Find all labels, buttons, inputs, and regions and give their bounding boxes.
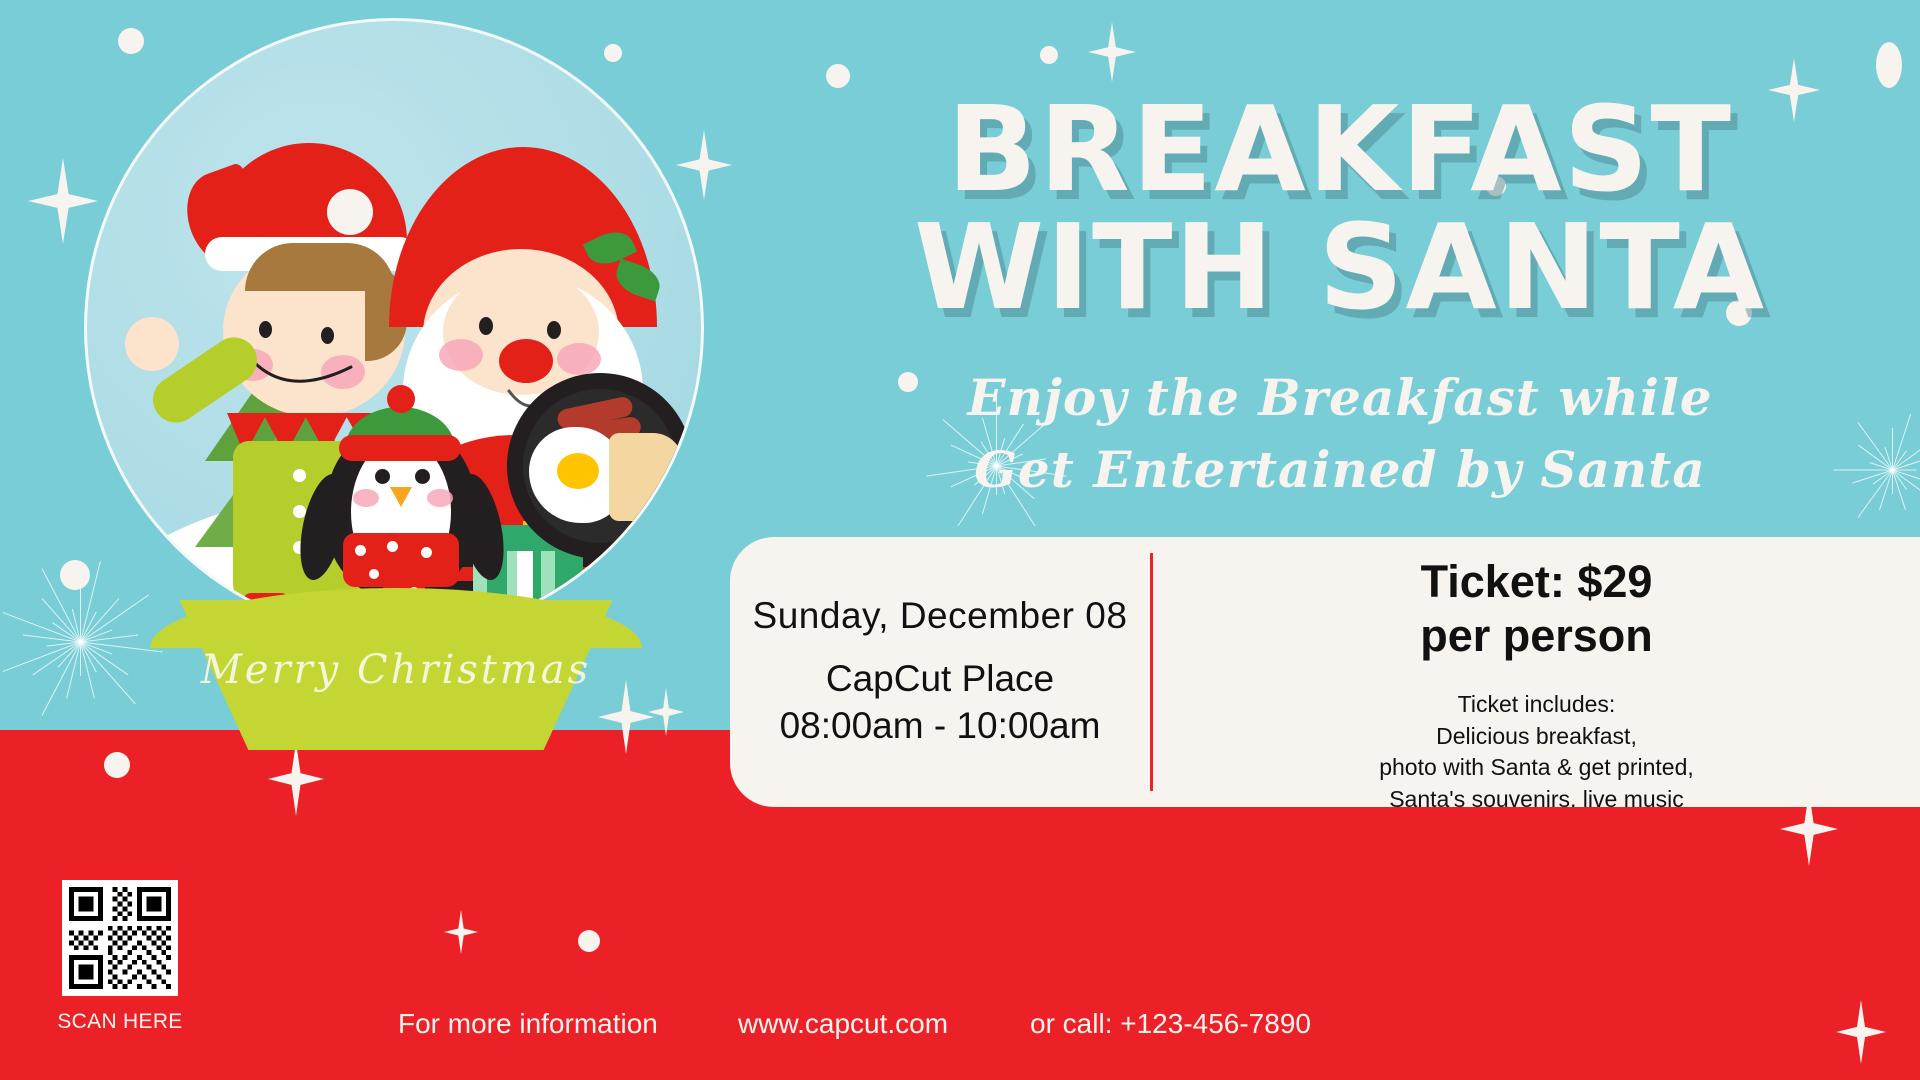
santa-nose [499, 339, 553, 383]
ticket-price: Ticket: $29 per person [1420, 555, 1653, 663]
elf-eye [321, 327, 334, 344]
penguin-cheek [353, 489, 379, 507]
footer-more-info: For more information [398, 1008, 658, 1040]
headline-line-2: WITH SANTA [760, 208, 1920, 326]
subtitle-line-1: Enjoy the Breakfast while [760, 368, 1920, 427]
santa-cheek [557, 343, 601, 375]
merry-christmas-banner: Merry Christmas [150, 610, 642, 730]
scarf-dot [387, 541, 398, 552]
event-info-card: Sunday, December 08 CapCut Place 08:00am… [730, 537, 1920, 807]
elf-button [293, 469, 306, 482]
ticket-includes-heading: Ticket includes: [1379, 689, 1694, 721]
fried-egg-yolk [557, 453, 599, 489]
ticket-includes-item: photo with Santa & get printed, [1379, 752, 1694, 784]
scarf-dot [355, 545, 366, 556]
toast-slice [609, 433, 683, 521]
penguin-cheek [427, 489, 453, 507]
event-venue: CapCut Place [780, 655, 1101, 702]
elf-hat-pompom [327, 189, 373, 235]
holly-berry-icon [621, 293, 636, 308]
ticket-includes-item: Santa's souvenirs, live music [1379, 784, 1694, 807]
poster-canvas: ❄ ❄ ❄ [0, 0, 1920, 1080]
snow-dot [578, 930, 600, 952]
footer-website-link[interactable]: www.capcut.com [738, 1008, 948, 1040]
penguin-hat-pompom [387, 385, 415, 413]
subtitle-line-2: Get Entertained by Santa [760, 440, 1920, 499]
event-date: Sunday, December 08 [753, 595, 1128, 637]
headline-line-1: BREAKFAST [760, 90, 1920, 208]
penguin-eye [375, 469, 390, 484]
elf-eye [259, 321, 272, 338]
santa-cheek [439, 339, 483, 371]
footer-phone[interactable]: or call: +123-456-7890 [1030, 1008, 1311, 1040]
qr-code-svg [69, 887, 171, 989]
event-schedule-block: Sunday, December 08 CapCut Place 08:00am… [730, 537, 1150, 807]
snow-globe-illustration: Merry Christmas [66, 10, 726, 810]
ticket-includes-item: Delicious breakfast, [1379, 721, 1694, 753]
qr-code-block[interactable]: SCAN HERE [40, 880, 200, 1034]
scarf-dot [421, 547, 432, 558]
penguin-hat-brim [339, 435, 461, 461]
ticket-price-line-1: Ticket: $29 [1420, 555, 1653, 609]
qr-code-image[interactable] [62, 880, 178, 996]
ticket-includes-list: Ticket includes: Delicious breakfast, ph… [1379, 689, 1694, 807]
globe-glass [84, 18, 704, 638]
ticket-price-line-2: per person [1420, 609, 1653, 663]
penguin-eye [415, 469, 430, 484]
santa-eye [547, 321, 561, 339]
ticket-block: Ticket: $29 per person Ticket includes: … [1153, 537, 1920, 807]
event-time: 08:00am - 10:00am [780, 702, 1101, 749]
penguin-beak [390, 487, 412, 507]
santa-eye [479, 317, 493, 335]
elf-hand [125, 317, 179, 371]
scarf-dot [369, 569, 379, 579]
elf-smile [247, 351, 367, 407]
scan-here-label: SCAN HERE [40, 1010, 200, 1034]
